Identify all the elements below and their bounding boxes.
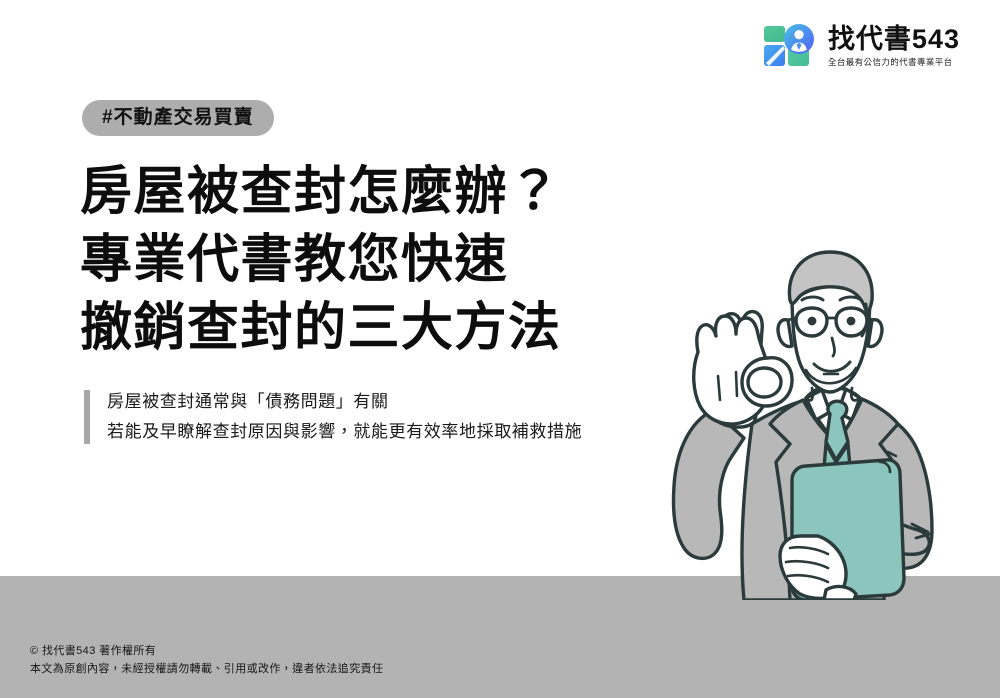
footer-text: © 找代書543 著作權所有 本文為原創內容，未經授權請勿轉載、引用或改作，違者… [30,645,383,676]
brand-tagline: 全台最有公信力的代書專業平台 [828,57,953,67]
headline-line-2: 專業代書教您快速 [80,226,562,294]
subtitle-text: 房屋被查封通常與「債務問題」有關 若能及早瞭解查封原因與影響，就能更有效率地採取… [107,390,582,444]
brand-logo-text: 找代書543 全台最有公信力的代書專業平台 [828,25,960,67]
footer-copyright: © 找代書543 著作權所有 [30,645,383,658]
brand-title: 找代書543 [828,25,960,55]
subtitle-line-2: 若能及早瞭解查封原因與影響，就能更有效率地採取補救措施 [107,420,582,444]
subtitle-block: 房屋被查封通常與「債務問題」有關 若能及早瞭解查封原因與影響，就能更有效率地採取… [84,390,582,444]
poster-canvas: 找代書543 全台最有公信力的代書專業平台 #不動產交易買賣 房屋被查封怎麼辦？… [0,0,1000,698]
businessman-ok-gesture-illustration [640,248,970,600]
subtitle-accent-bar [84,390,90,444]
headline-block: 房屋被查封怎麼辦？ 專業代書教您快速 撤銷查封的三大方法 [80,158,562,362]
headline-line-1: 房屋被查封怎麼辦？ [80,158,562,226]
footer-notice: 本文為原創內容，未經授權請勿轉載、引用或改作，違者依法追究責任 [30,663,383,676]
brand-logo[interactable]: 找代書543 全台最有公信力的代書專業平台 [763,22,960,70]
document-person-logo-icon [763,22,819,70]
subtitle-line-1: 房屋被查封通常與「債務問題」有關 [107,390,582,414]
headline-line-3: 撤銷查封的三大方法 [80,294,562,362]
category-badge[interactable]: #不動產交易買賣 [82,100,274,136]
